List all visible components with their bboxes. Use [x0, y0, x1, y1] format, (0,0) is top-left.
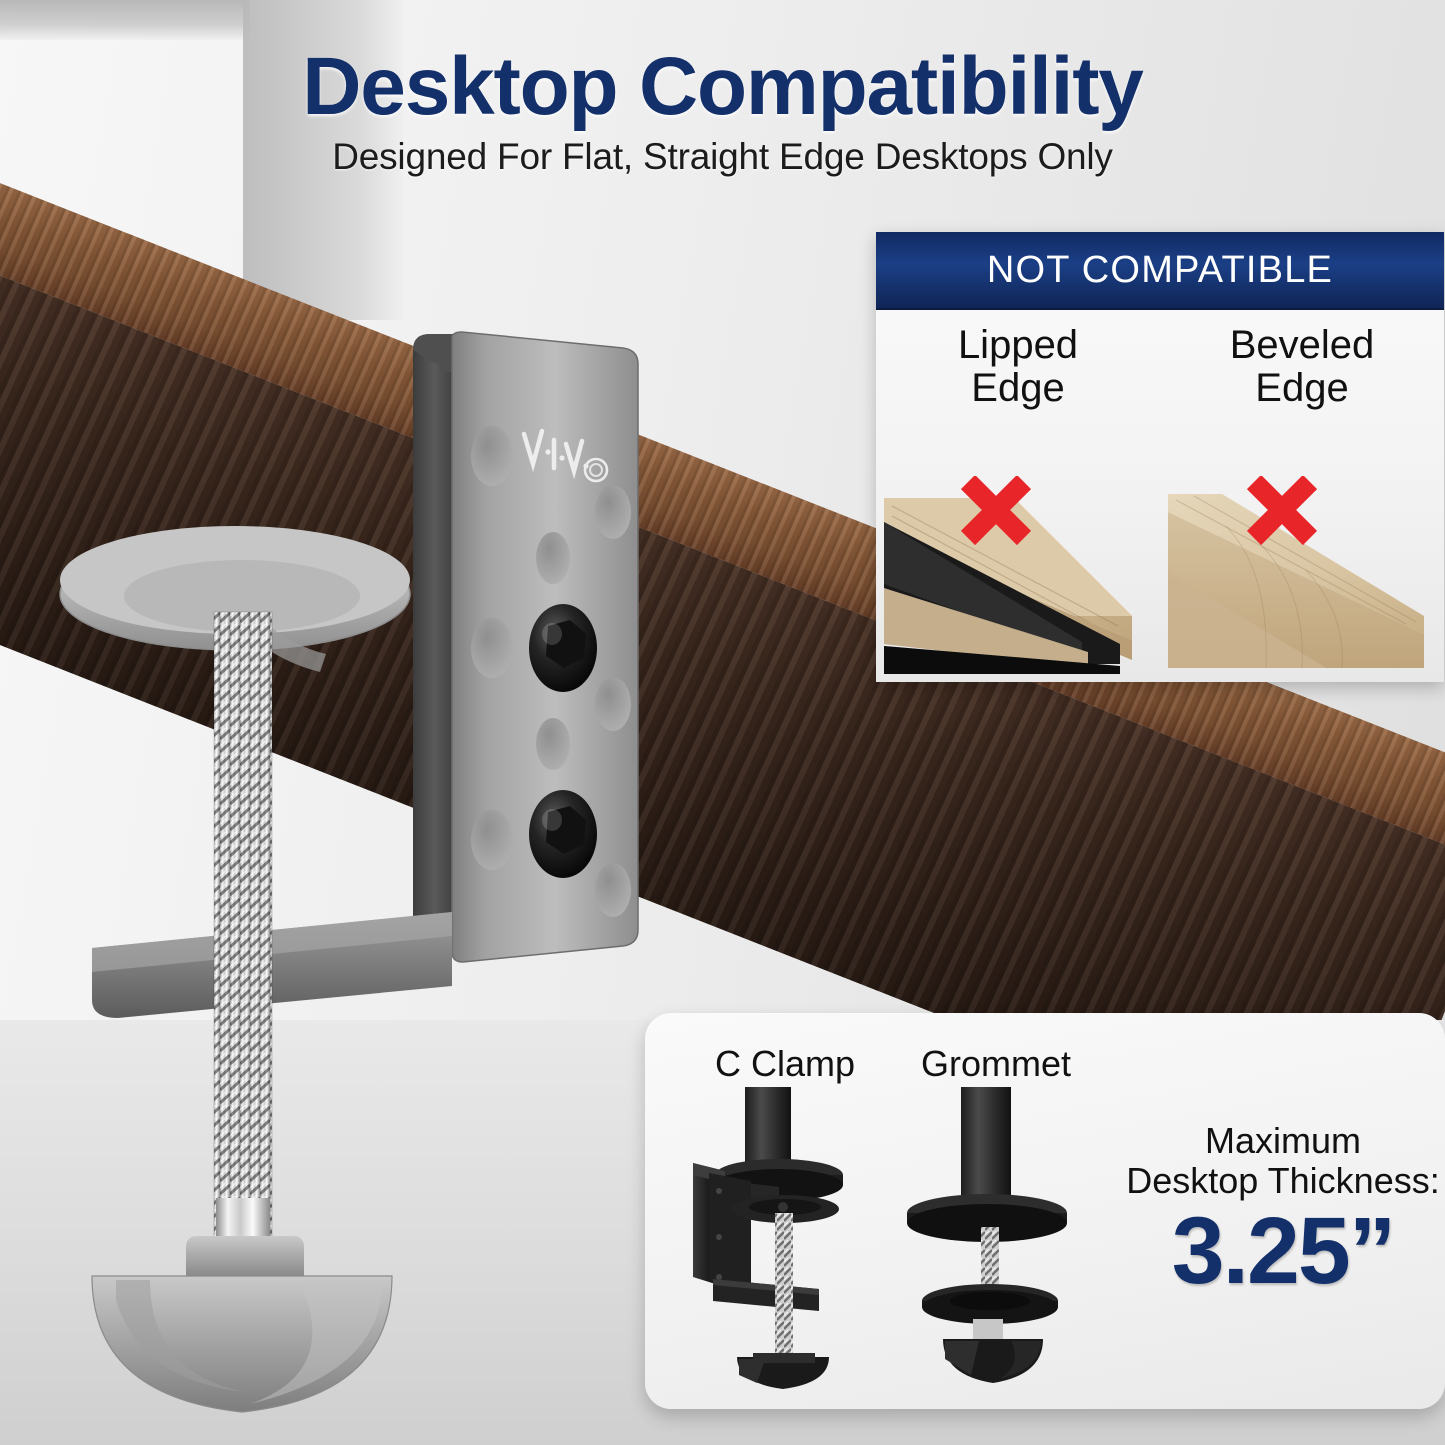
red-x-icon	[1254, 482, 1310, 538]
beveled-edge-label: Beveled Edge	[1160, 324, 1444, 410]
c-clamp-diagram	[679, 1087, 889, 1399]
max-thickness-block: Maximum Desktop Thickness: 3.25”	[1123, 1121, 1443, 1299]
clamp-face-plate	[452, 332, 638, 962]
not-compatible-heading: NOT COMPATIBLE	[987, 249, 1333, 292]
hex-bolt-lower	[529, 790, 597, 878]
max-thickness-line2: Desktop Thickness:	[1123, 1161, 1443, 1201]
c-clamp-label: C Clamp	[715, 1043, 855, 1085]
mounting-options-card: C Clamp Grommet	[645, 1013, 1445, 1409]
header-block: Desktop Compatibility Designed For Flat,…	[0, 44, 1445, 178]
page-title: Desktop Compatibility	[0, 44, 1445, 130]
max-thickness-value: 3.25”	[1123, 1204, 1443, 1299]
not-compatible-item-beveled: Beveled Edge	[1160, 310, 1444, 684]
page-subtitle: Designed For Flat, Straight Edge Desktop…	[0, 136, 1445, 178]
infographic-canvas: Desktop Compatibility Designed For Flat,…	[0, 0, 1445, 1445]
grommet-diagram	[887, 1087, 1097, 1399]
not-compatible-panel: NOT COMPATIBLE Lipped Edge	[876, 232, 1444, 682]
not-compatible-item-lipped: Lipped Edge	[876, 310, 1160, 684]
lipped-edge-label: Lipped Edge	[876, 324, 1160, 410]
not-compatible-body: Lipped Edge	[876, 310, 1444, 684]
threaded-screw	[214, 612, 272, 1252]
grommet-label: Grommet	[921, 1043, 1071, 1085]
lipped-edge-illustration	[882, 476, 1154, 676]
beveled-edge-illustration	[1166, 476, 1438, 676]
hex-bolt-upper	[529, 604, 597, 692]
thumb-knob	[92, 1236, 392, 1412]
max-thickness-line1: Maximum	[1123, 1121, 1443, 1161]
not-compatible-header: NOT COMPATIBLE	[876, 232, 1444, 310]
